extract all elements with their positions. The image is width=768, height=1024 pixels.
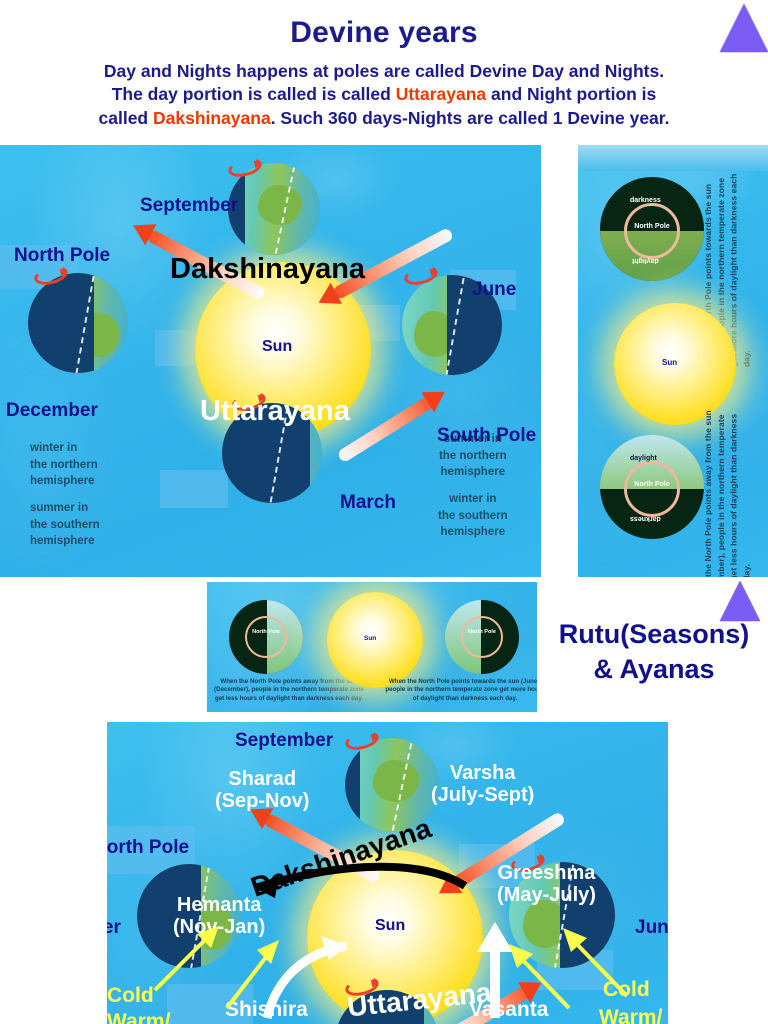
- seasons-orbit-diagram: Sun: [107, 722, 668, 1024]
- label-december: December: [6, 400, 98, 422]
- right-caption-december: When the North Pole points away from the…: [702, 403, 753, 577]
- subtitle-line-3b: . Such 360 days-Nights are called 1 Devi…: [271, 108, 670, 128]
- season-range: (May-July): [497, 884, 596, 906]
- haze-block: [160, 470, 228, 508]
- seasons-label-december: December: [107, 917, 121, 939]
- daylight-cycle-ring: [461, 616, 503, 658]
- subtitle-line-2a: The day portion is called is called: [112, 84, 396, 104]
- caption-line: summer in: [30, 500, 100, 517]
- daylight-cycle-ring: [624, 203, 680, 259]
- season-greeshma: Greeshma (May-July): [497, 862, 596, 907]
- subtitle-line-3a: called: [99, 108, 153, 128]
- mid-caption-right: When the North Pole points towards the s…: [385, 678, 537, 703]
- caption-line: hemisphere: [30, 473, 100, 490]
- temp-cold-left: Cold: [107, 984, 154, 1008]
- header: Devine years Day and Nights happens at p…: [0, 0, 768, 145]
- caption-december: winter in the northern hemisphere summer…: [30, 440, 100, 550]
- season-range: (July-Sept): [431, 784, 534, 806]
- highlight-dakshinayana: Dakshinayana: [153, 108, 271, 128]
- season-varsha: Varsha (July-Sept): [431, 762, 534, 807]
- purple-triangle-icon-middle: [720, 581, 760, 621]
- daylight-cycle-ring: [245, 616, 287, 658]
- caption-line: the southern: [30, 517, 100, 534]
- header-subtitle: Day and Nights happens at poles are call…: [24, 60, 744, 130]
- section-label-rutu-ayanas: Rutu(Seasons) & Ayanas: [540, 617, 768, 686]
- globe-pole-label: North Pole: [463, 629, 501, 635]
- mid-daylight-panel: North Pole When the North Pole points aw…: [207, 582, 537, 712]
- right-sun-label: Sun: [662, 358, 677, 367]
- caption-line: hemisphere: [438, 524, 508, 541]
- caption-june: summer in the northern hemisphere winter…: [438, 431, 508, 541]
- daylight-cycle-ring: [624, 461, 680, 517]
- seasons-label-june: June: [635, 917, 668, 939]
- main-orbit-diagram: Sun: [0, 145, 541, 577]
- globe-daylight-label: daylight: [632, 257, 659, 264]
- warm-pointer-right: [487, 934, 577, 1014]
- caption-line: hemisphere: [438, 464, 508, 481]
- section-label-line-2: & Ayanas: [540, 652, 768, 687]
- temp-cold-right: Cold: [603, 978, 650, 1002]
- globe-darkness-label: darkness: [630, 515, 661, 522]
- globe-pole-label: North Pole: [626, 223, 678, 230]
- globe-pole-label: North Pole: [626, 481, 678, 488]
- season-name: Hemanta: [173, 894, 265, 916]
- seasons-label-september: September: [235, 730, 333, 752]
- globe-december: North Pole daylight darkness: [600, 435, 704, 539]
- mid-globe-december: North Pole: [229, 600, 303, 674]
- purple-triangle-icon-top: [720, 4, 768, 52]
- label-september: September: [140, 195, 238, 217]
- mid-caption-left: When the North Pole points away from the…: [209, 678, 369, 703]
- caption-line: hemisphere: [30, 533, 100, 550]
- globe-daylight-label: daylight: [630, 455, 657, 462]
- label-south-pole: South Pole: [437, 425, 536, 447]
- season-name: Sharad: [215, 768, 309, 790]
- sun-label: Sun: [262, 338, 292, 356]
- label-june: June: [472, 279, 516, 301]
- season-name: Varsha: [431, 762, 534, 784]
- caption-line: winter in: [438, 491, 508, 508]
- highlight-uttarayana: Uttarayana: [396, 84, 486, 104]
- subtitle-line-2b: and Night portion is: [486, 84, 656, 104]
- temp-warm-left: Warm/: [107, 1010, 170, 1024]
- earth-night-side: [345, 738, 360, 832]
- label-north-pole: North Pole: [14, 245, 110, 267]
- globe-pole-label: North Pole: [247, 629, 285, 635]
- mid-sun-label: Sun: [364, 635, 376, 642]
- seasons-sun-label: Sun: [375, 917, 405, 935]
- label-uttarayana: Uttarayana: [200, 395, 350, 428]
- page-title: Devine years: [0, 16, 768, 50]
- season-name: Greeshma: [497, 862, 596, 884]
- right-daylight-panel: North Pole darkness daylight When the No…: [578, 145, 768, 577]
- globe-june: North Pole darkness daylight: [600, 177, 704, 281]
- globe-darkness-label: darkness: [630, 197, 661, 204]
- season-sharad: Sharad (Sep-Nov): [215, 768, 309, 813]
- temp-warm-right: Warm/: [599, 1006, 662, 1024]
- caption-line: the northern: [438, 448, 508, 465]
- section-label-line-1: Rutu(Seasons): [540, 617, 768, 652]
- label-march: March: [340, 492, 396, 514]
- label-dakshinayana: Dakshinayana: [170, 253, 365, 286]
- caption-line: the northern: [30, 457, 100, 474]
- warm-pointer-left: [217, 928, 297, 1014]
- earth-september: [228, 163, 320, 255]
- seasons-label-north-pole: North Pole: [107, 837, 189, 859]
- slide-root: Devine years Day and Nights happens at p…: [0, 0, 768, 1024]
- caption-line: winter in: [30, 440, 100, 457]
- caption-line: the southern: [438, 508, 508, 525]
- earth-december: [28, 273, 128, 373]
- mid-globe-june: North Pole: [445, 600, 519, 674]
- season-range: (Sep-Nov): [215, 790, 309, 812]
- subtitle-line-1: Day and Nights happens at poles are call…: [104, 61, 664, 81]
